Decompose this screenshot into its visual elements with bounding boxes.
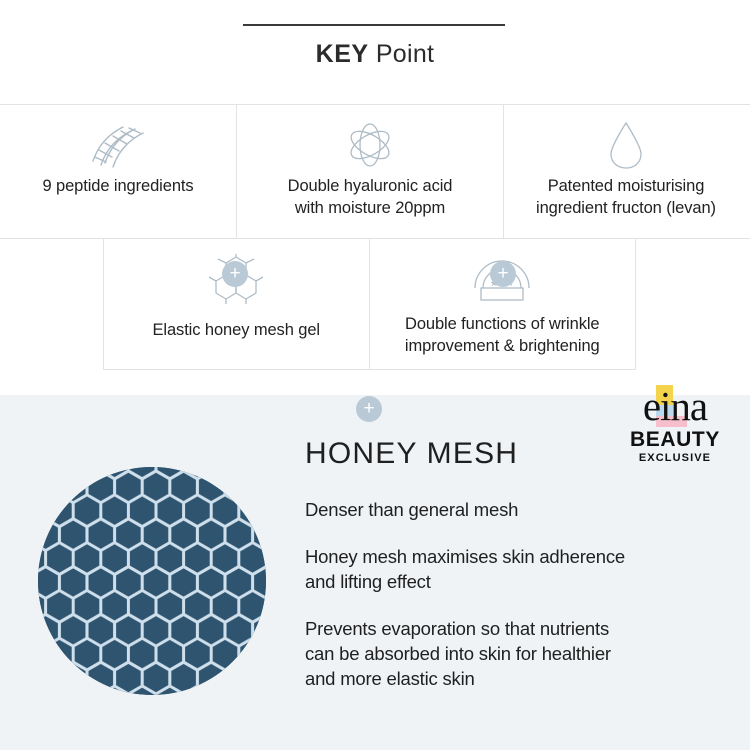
page-title: KEY Point xyxy=(0,40,750,69)
feature-row-1: 9 peptide ingredients Double xyxy=(0,104,750,239)
honey-mesh-circle-image xyxy=(38,467,266,695)
logo-wordmark: eina xyxy=(643,386,707,427)
logo-beauty-text: BEAUTY xyxy=(616,428,734,451)
dna-helix-icon xyxy=(85,119,151,171)
feature-label: Double hyaluronic acid with moisture 20p… xyxy=(280,175,461,219)
honey-mesh-paragraph: Denser than general mesh xyxy=(305,497,735,522)
logo-exclusive-text: EXCLUSIVE xyxy=(616,451,734,465)
header: KEY Point xyxy=(0,0,750,104)
page-title-rest: Point xyxy=(369,40,435,68)
honey-mesh-paragraph: Prevents evaporation so that nutrients c… xyxy=(305,616,735,691)
feature-label: Patented moisturising ingredient fructon… xyxy=(528,175,724,219)
page-title-bold: KEY xyxy=(316,40,369,68)
feature-label: 9 peptide ingredients xyxy=(34,175,201,197)
feature-cell-peptide: 9 peptide ingredients xyxy=(0,105,236,238)
feature-label: Double functions of wrinkle improvement … xyxy=(397,313,608,357)
honey-mesh-text-block: HONEY MESH Denser than general mesh Hone… xyxy=(305,437,735,713)
honeycomb-pattern xyxy=(38,467,266,695)
plus-badge-2: + xyxy=(490,261,516,287)
feature-cell-honey-gel: Elastic honey mesh gel xyxy=(104,239,369,369)
honey-mesh-paragraph: Honey mesh maximises skin adherence and … xyxy=(305,544,735,594)
water-droplet-icon xyxy=(608,119,644,171)
feature-cell-wrinkle-brightening: ★★★ Double functions of wrinkle improvem… xyxy=(369,239,636,369)
feature-grid: 9 peptide ingredients Double xyxy=(0,104,750,370)
feature-row-2-band: Elastic honey mesh gel xyxy=(0,239,750,370)
key-point-infographic: KEY Point xyxy=(0,0,750,750)
brand-logo: eina BEAUTY EXCLUSIVE xyxy=(616,383,734,465)
feature-row-2: Elastic honey mesh gel xyxy=(103,239,636,370)
feature-cell-fructon: Patented moisturising ingredient fructon… xyxy=(504,105,748,238)
plus-badge-1: + xyxy=(222,261,248,287)
feature-label: Elastic honey mesh gel xyxy=(145,319,328,341)
feature-cell-hyaluronic: Double hyaluronic acid with moisture 20p… xyxy=(236,105,504,238)
plus-badge-3: + xyxy=(356,396,382,422)
logo-wordmark-row: eina xyxy=(616,383,734,427)
header-divider-rule xyxy=(243,24,505,26)
atom-molecule-icon xyxy=(343,119,397,171)
